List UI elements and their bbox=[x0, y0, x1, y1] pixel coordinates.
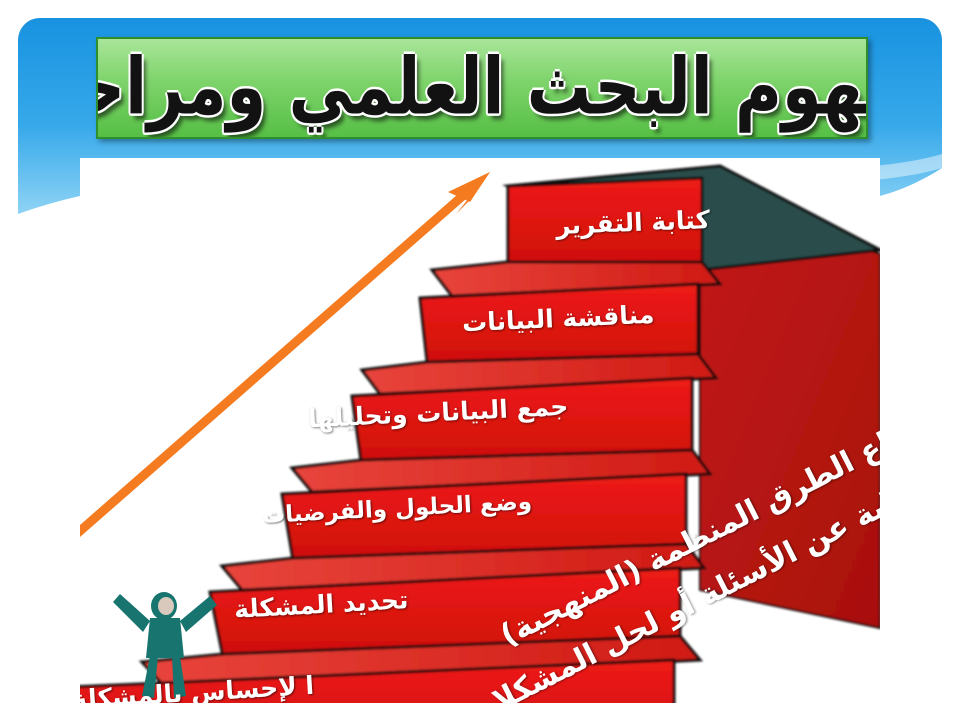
staircase-diagram: كتابة التقرير مناقشة البيانات جمع البيان… bbox=[80, 158, 880, 703]
slide-canvas: مفهوم البحث العلمي ومراحله bbox=[0, 0, 960, 720]
staircase-body bbox=[80, 166, 880, 703]
staircase-artwork bbox=[80, 158, 880, 703]
step-6-face bbox=[508, 178, 702, 270]
title-plate: مفهوم البحث العلمي ومراحله bbox=[96, 37, 868, 139]
page-title: مفهوم البحث العلمي ومراحله bbox=[96, 49, 868, 127]
